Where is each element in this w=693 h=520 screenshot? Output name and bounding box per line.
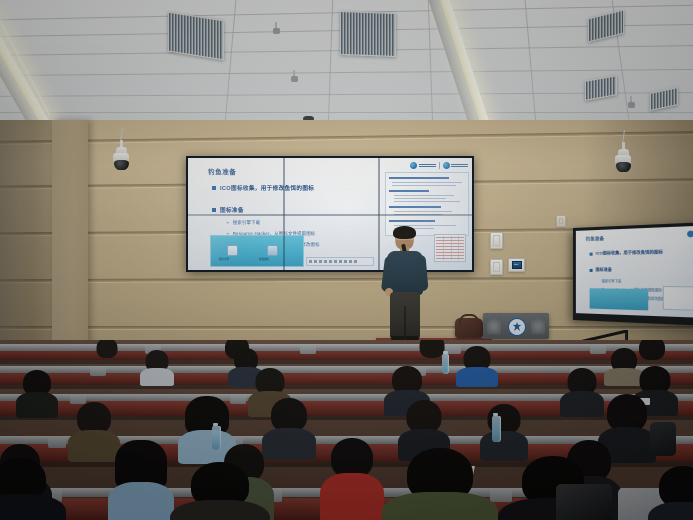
- side-monitor-bullet-2-text: 图标准备: [596, 267, 612, 273]
- av-control-panel-display[interactable]: [508, 258, 525, 272]
- audience-seating: [0, 340, 693, 520]
- side-monitor-bullet-1: ICO图标收集，用于修改鱼饵的图标: [590, 249, 663, 257]
- person-body: [456, 367, 498, 387]
- lecture-hall-photo: 钓鱼准备 ICO图标收集，用于修改鱼饵的图标 图标准备 ➢ 搜索引擎下载 ➢ R…: [0, 0, 693, 520]
- person-body: [648, 502, 693, 520]
- side-monitor-title: 钓鱼准备: [586, 236, 604, 243]
- slide-bullet-1: ICO图标收集，用于修改鱼饵的图标: [212, 184, 314, 192]
- stage-bag: [455, 318, 483, 338]
- side-monitor-bullet-2: 图标准备: [590, 267, 612, 273]
- security-camera-left: [112, 140, 130, 172]
- person-body: [170, 500, 270, 520]
- arrow-icon: ➢: [226, 220, 230, 226]
- person-head: [331, 438, 373, 478]
- audience-person-r1-1: [0, 458, 66, 520]
- side-monitor: 钓鱼准备 ICO图标收集，用于修改鱼饵的图标 图标准备 搜索引擎下载 Resou…: [573, 222, 693, 325]
- person-head: [97, 340, 118, 358]
- logo-divider: [439, 162, 440, 169]
- ceiling: [0, 0, 693, 132]
- bag-on-desk-r3: [650, 422, 676, 456]
- file-icon-right: [267, 245, 278, 256]
- slide-bullet-1-text: ICO图标收集，用于修改鱼饵的图标: [220, 184, 314, 192]
- wall-outlet-right: [556, 215, 566, 227]
- side-monitor-screenshot: [590, 288, 649, 310]
- sprinkler-2: [290, 70, 298, 84]
- water-bottle-r3b: [492, 416, 501, 442]
- side-monitor-screen: 钓鱼准备 ICO图标收集，用于修改鱼饵的图标 图标准备 搜索引擎下载 Resou…: [576, 226, 693, 318]
- console-speaker-left: [487, 318, 501, 334]
- logo-right-icon: [443, 162, 450, 169]
- light-switch-upper[interactable]: [490, 232, 503, 249]
- person-head: [271, 398, 307, 432]
- bullet-square-icon: [590, 268, 593, 271]
- slide-bullet-2: 图标准备: [212, 206, 244, 214]
- person-body: [382, 492, 498, 520]
- logo-cncert: [410, 162, 436, 169]
- audience-person-r1-3: [382, 448, 498, 520]
- audience-person-r1-2: [170, 462, 270, 520]
- av-console: [483, 313, 549, 339]
- presenter: [383, 228, 427, 340]
- video-wall: 钓鱼准备 ICO图标收集，用于修改鱼饵的图标 图标准备 ➢ 搜索引擎下载 ➢ R…: [186, 156, 474, 272]
- console-emblem-icon: [508, 318, 526, 336]
- side-monitor-sub-1: 搜索引擎下载: [602, 278, 622, 283]
- person-body: [140, 368, 174, 386]
- light-switch-lower[interactable]: [490, 259, 503, 275]
- presenter-arm-right: [414, 255, 428, 292]
- wall-shadow-left: [0, 120, 95, 370]
- security-camera-right: [614, 142, 632, 174]
- screenshot-caption-left: 图标文件: [219, 257, 229, 261]
- logo-left-icon: [410, 162, 417, 169]
- presenter-hair: [393, 226, 416, 239]
- audience-person-r5-3: [456, 346, 498, 382]
- logo-notification-center: [443, 162, 469, 169]
- slide-resource-grid: [434, 234, 466, 262]
- side-monitor-bullet-1-text: ICO图标收集，用于修改鱼饵的图标: [596, 249, 663, 257]
- slide-bullet-2-text: 图标准备: [220, 206, 244, 214]
- person-head: [420, 340, 445, 358]
- bullet-square-icon: [590, 252, 593, 255]
- logo-right-text: [451, 164, 468, 168]
- water-bottle-r5: [442, 354, 449, 374]
- logo-left-text: [419, 164, 436, 168]
- slide-sub-bullet-1: ➢ 搜索引擎下载: [226, 220, 260, 226]
- audience-person-r4-1: [16, 370, 58, 414]
- person-body: [16, 392, 58, 418]
- videowall-bezel-3: [188, 214, 472, 216]
- file-icon-left: [227, 245, 238, 256]
- slide-toolbar-strip: [306, 257, 374, 266]
- slide-sub-bullet-1-text: 搜索引擎下载: [233, 220, 261, 226]
- presentation-slide: 钓鱼准备 ICO图标收集，用于修改鱼饵的图标 图标准备 ➢ 搜索引擎下载 ➢ R…: [188, 158, 472, 270]
- presenter-legs: [390, 292, 420, 338]
- sprinkler-1: [272, 22, 280, 36]
- bullet-square-icon: [212, 208, 216, 212]
- audience-person-r5-1: [140, 350, 174, 382]
- side-monitor-doc-thumb: [663, 286, 693, 311]
- slide-screenshot-image: 图标文件 提取图标: [210, 235, 304, 267]
- backpack-foreground: [556, 484, 612, 520]
- slide-logo-header: [410, 162, 468, 169]
- side-monitor-logo-icon: [687, 230, 693, 237]
- audience-person-r1-5: [648, 466, 693, 520]
- audience-person-r6-1: [92, 340, 122, 364]
- slide-title: 钓鱼准备: [208, 166, 236, 176]
- console-speaker-right: [531, 318, 545, 334]
- sprinkler-3: [627, 96, 635, 110]
- screenshot-caption-right: 提取图标: [259, 257, 269, 261]
- hvac-vent-2: [340, 11, 396, 57]
- bullet-square-icon: [212, 186, 216, 190]
- person-body: [0, 494, 66, 520]
